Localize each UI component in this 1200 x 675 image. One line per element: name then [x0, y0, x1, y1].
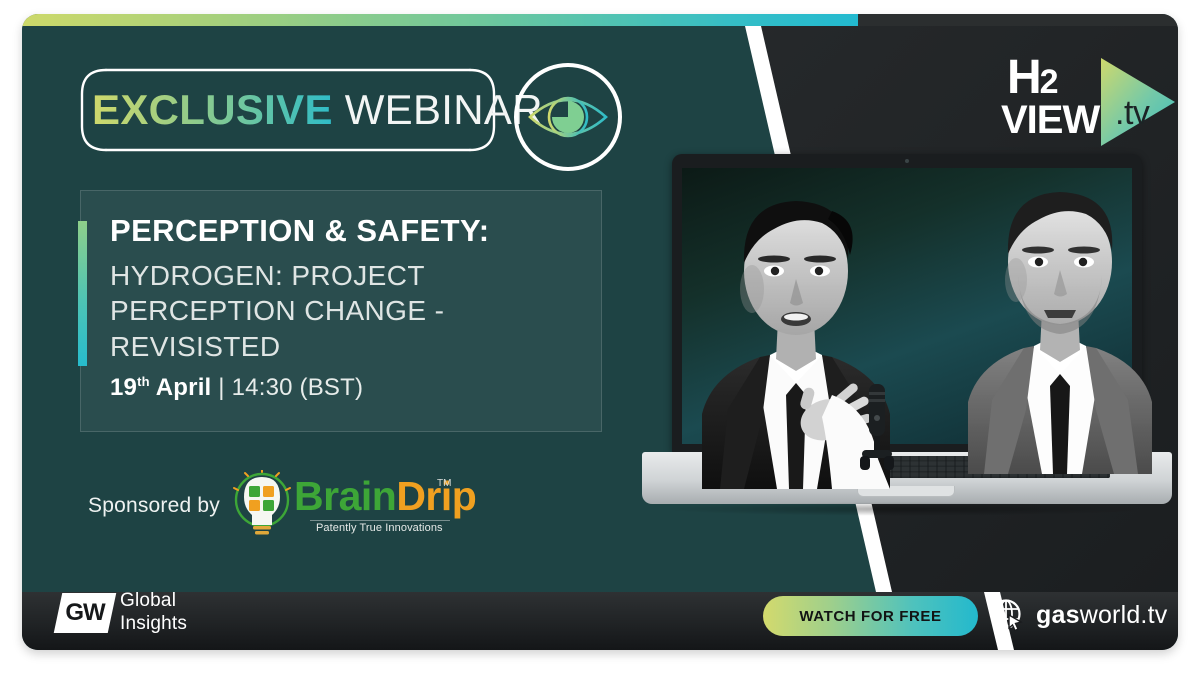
- webinar-datetime: 19th April | 14:30 (BST): [110, 374, 363, 402]
- speaker-photo-right: [952, 154, 1172, 474]
- laptop-shadow: [660, 502, 1154, 516]
- globe-cursor-icon: [990, 598, 1024, 632]
- h2-wordmark: H2: [1007, 54, 1057, 102]
- exclusive-webinar-badge: EXCLUSIVE WEBINAR: [78, 66, 498, 154]
- gw-line2: Insights: [120, 613, 187, 636]
- page-title: PERCEPTION & SAFETY:: [110, 214, 610, 247]
- h2-subscript: 2: [1040, 63, 1057, 101]
- sponsored-by-label: Sponsored by: [88, 494, 220, 518]
- gw-global-insights-logo: GW Global Insights: [58, 590, 278, 636]
- top-accent-strip: [22, 14, 858, 26]
- brand-part-brain: Brain: [294, 473, 396, 519]
- badge-word-exclusive: EXCLUSIVE: [92, 86, 333, 133]
- eye-icon: [512, 61, 624, 173]
- date-day: 19: [110, 374, 137, 401]
- watch-for-free-button[interactable]: WATCH FOR FREE: [763, 596, 978, 636]
- title-accent-bar: [78, 221, 87, 366]
- gw-logo-text: Global Insights: [120, 590, 187, 636]
- date-month: April: [150, 374, 212, 401]
- webinar-promo-graphic: EXCLUSIVE WEBINAR PERCEPTION & SAFETY: H…: [0, 0, 1200, 675]
- webinar-subtitle: HYDROGEN: PROJECT PERCEPTION CHANGE - RE…: [110, 258, 580, 364]
- date-time: | 14:30 (BST): [211, 374, 363, 401]
- site-rest: world.tv: [1080, 601, 1168, 629]
- gasworld-site-text: gasworld.tv: [1036, 601, 1167, 630]
- microphone-icon: [860, 384, 894, 474]
- promo-card: EXCLUSIVE WEBINAR PERCEPTION & SAFETY: H…: [22, 14, 1178, 650]
- sponsor-tagline: Patently True Innovations: [316, 522, 443, 534]
- top-strip-dark-segment: [858, 14, 1178, 26]
- lightbulb-brain-icon: [232, 470, 292, 540]
- badge-text: EXCLUSIVE WEBINAR: [92, 89, 543, 131]
- view-wordmark: VIEW: [1001, 100, 1099, 140]
- site-bold: gas: [1036, 601, 1080, 629]
- tv-suffix: .tv: [1115, 96, 1149, 130]
- trademark-symbol: TM: [437, 478, 451, 489]
- sponsor-tagline-rule: [310, 520, 450, 521]
- gw-monogram-text: GW: [58, 593, 112, 633]
- gw-monogram: GW: [54, 593, 117, 633]
- gasworld-link[interactable]: gasworld.tv: [990, 598, 1167, 632]
- sponsor-logo: BrainDrip TM Patently True Innovations: [232, 470, 452, 548]
- h2view-logo: H2 VIEW .tv: [997, 52, 1177, 150]
- date-suffix: th: [137, 374, 150, 389]
- gw-line1: Global: [120, 590, 187, 613]
